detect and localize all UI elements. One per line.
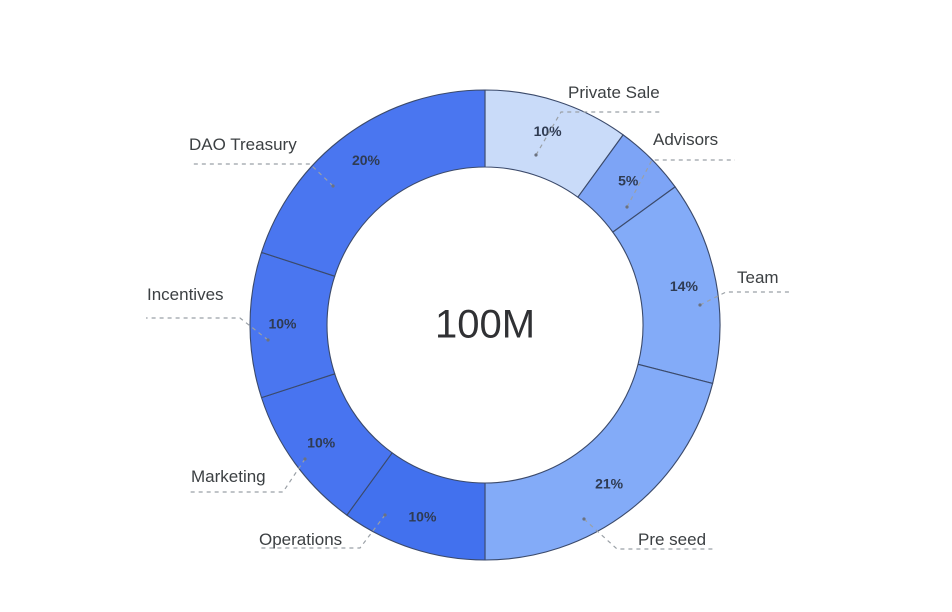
leader-dot-marketing	[303, 457, 306, 460]
segment-percent-label: 21%	[595, 476, 624, 492]
center-total-label: 100M	[435, 303, 535, 347]
leader-dot-team	[698, 303, 701, 306]
leader-dot-private-sale	[534, 153, 537, 156]
donut-chart: 10%5%14%21%10%10%10%20% 100M Private Sal…	[0, 0, 952, 612]
leader-dot-pre-seed	[582, 517, 585, 520]
category-label-incentives: Incentives	[147, 285, 224, 304]
segment-percent-label: 10%	[268, 316, 297, 332]
segment-percent-label: 14%	[670, 278, 699, 294]
category-label-private-sale: Private Sale	[568, 83, 660, 102]
leader-dot-advisors	[625, 205, 628, 208]
category-label-marketing: Marketing	[191, 467, 266, 486]
donut-segment[interactable]	[262, 90, 486, 276]
segment-percent-label: 5%	[618, 173, 639, 189]
segment-percent-label: 10%	[307, 435, 336, 451]
leader-dot-incentives	[266, 338, 269, 341]
segment-percent-label: 20%	[352, 152, 381, 168]
callout-marketing: Marketing	[190, 457, 307, 492]
category-label-operations: Operations	[259, 530, 342, 549]
leader-dot-operations	[383, 513, 386, 516]
category-label-pre-seed: Pre seed	[638, 530, 706, 549]
segment-percent-label: 10%	[534, 123, 563, 139]
category-label-dao-treasury: DAO Treasury	[189, 135, 297, 154]
leader-dot-dao-treasury	[331, 184, 334, 187]
donut-chart-svg: 10%5%14%21%10%10%10%20% 100M Private Sal…	[0, 0, 952, 612]
category-label-team: Team	[737, 268, 779, 287]
category-label-advisors: Advisors	[653, 130, 718, 149]
segment-percent-label: 10%	[408, 508, 437, 524]
